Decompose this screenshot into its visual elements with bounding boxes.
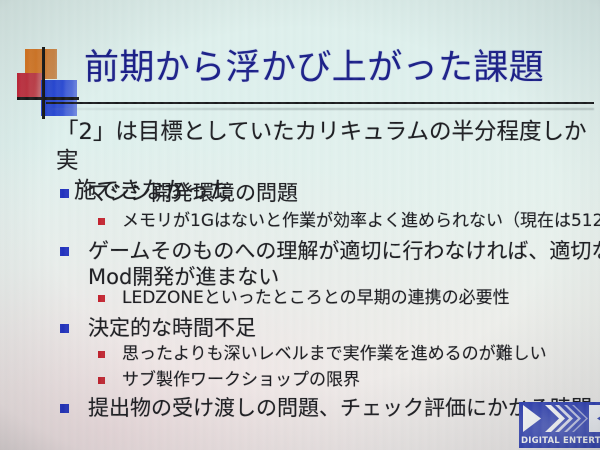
bullet-square-icon bbox=[98, 295, 105, 302]
bullet-square-icon bbox=[60, 324, 69, 333]
bullet-square-icon bbox=[98, 377, 105, 384]
list-item-label: サブ製作ワークショップの限界 bbox=[122, 370, 360, 390]
list-item-label: 提出物の受け渡しの問題、チェック評価にかかる時間 bbox=[88, 396, 592, 420]
decoration-vertical-line bbox=[42, 47, 45, 119]
slide-title-block: 前期から浮かび上がった課題 bbox=[0, 0, 600, 120]
list-item-label: メモリが1Gはないと作業が効率よく進められない（現在は512MB） bbox=[122, 211, 600, 231]
list-item: サブ製作ワークショップの限界 bbox=[96, 370, 360, 391]
bullet-square-icon bbox=[60, 189, 69, 198]
page-title: 前期から浮かび上がった課題 bbox=[84, 50, 544, 87]
list-item-label: ゲームそのものへの理解が適切に行わなければ、適切なMod開発が進まない bbox=[88, 239, 600, 289]
list-item-label: 思ったよりも深いレベルまで実作業を進めるのが難しい bbox=[122, 344, 547, 364]
title-underline-rule bbox=[46, 102, 594, 104]
bullet-square-icon bbox=[98, 218, 105, 225]
bullet-square-icon bbox=[98, 351, 105, 358]
logo-caption: DIGITAL ENTERTAIN bbox=[521, 435, 600, 448]
logo-chevron-icon bbox=[519, 402, 600, 435]
bullet-square-icon bbox=[60, 404, 69, 413]
list-item: 決定的な時間不足 bbox=[58, 315, 256, 341]
list-item: LEDZONEといったところとの早期の連携の必要性 bbox=[96, 288, 510, 309]
title-underline-shadow bbox=[52, 108, 594, 110]
list-item-label: 決定的な時間不足 bbox=[88, 316, 256, 340]
list-item: ゲームそのものへの理解が適切に行わなければ、適切なMod開発が進まない bbox=[58, 238, 600, 290]
lead-paragraph-line-1: 「2」は目標としていたカリキュラムの半分程度しか実 bbox=[56, 119, 586, 174]
list-item: 思ったよりも深いレベルまで実作業を進めるのが難しい bbox=[96, 344, 547, 365]
projected-slide-photo: 前期から浮かび上がった課題 「2」は目標としていたカリキュラムの半分程度しか実施… bbox=[0, 0, 600, 450]
bullet-square-icon bbox=[60, 247, 69, 256]
list-item: マシン開発環境の問題 bbox=[58, 180, 298, 206]
list-item: 提出物の受け渡しの問題、チェック評価にかかる時間 bbox=[58, 395, 592, 421]
list-item-label: LEDZONEといったところとの早期の連携の必要性 bbox=[122, 288, 510, 308]
corner-brand-logo: DIGITAL ENTERTAIN bbox=[519, 402, 600, 450]
decoration-horizontal-line bbox=[17, 97, 79, 100]
list-item-label: マシン開発環境の問題 bbox=[88, 181, 298, 205]
list-item: メモリが1Gはないと作業が効率よく進められない（現在は512MB） bbox=[96, 211, 600, 232]
